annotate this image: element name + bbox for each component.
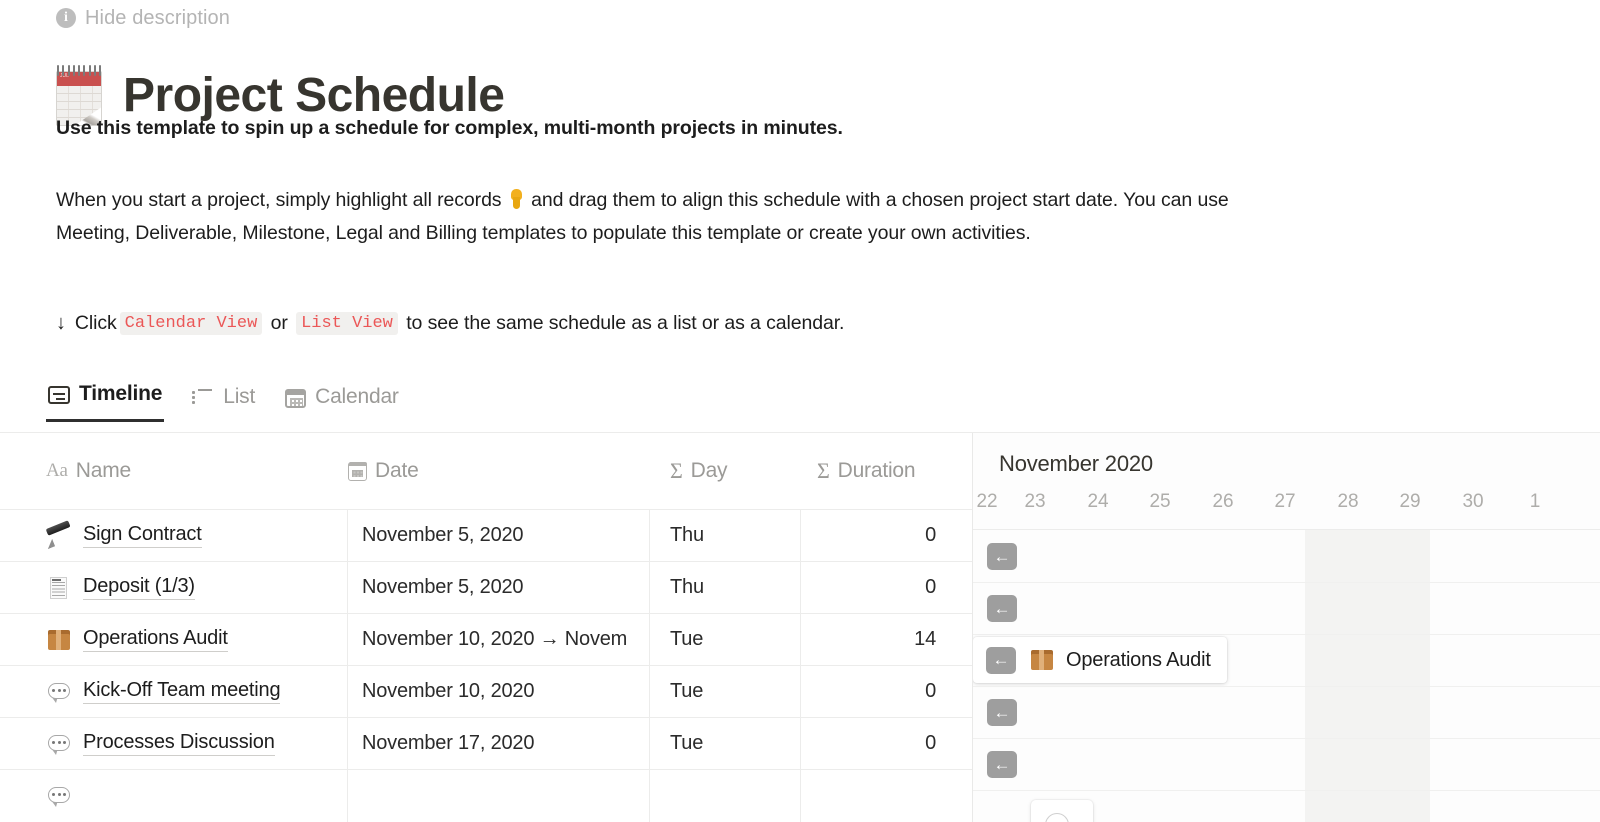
timeline-day-tick: 29 <box>1388 491 1432 513</box>
formula-sigma-icon: Σ <box>670 458 683 484</box>
timeline-icon <box>48 386 70 404</box>
row-day-cell <box>650 770 800 822</box>
row-duration-label: 0 <box>925 576 936 599</box>
row-date-label: November 10, 2020 <box>362 680 534 703</box>
package-icon <box>1029 647 1055 673</box>
tab-calendar-label: Calendar <box>315 385 399 409</box>
row-date-label: November 5, 2020 <box>362 576 523 599</box>
timeline-month-label: November 2020 <box>999 451 1153 477</box>
column-header-name-label: Name <box>76 459 131 483</box>
or-word: or <box>265 312 293 335</box>
speech-balloon-icon <box>46 731 72 757</box>
calendar-view-chip[interactable]: Calendar View <box>120 312 263 335</box>
tab-list-label: List <box>223 385 255 409</box>
formula-sigma-icon: Σ <box>817 458 830 484</box>
pen-icon <box>46 523 72 549</box>
row-duration-cell <box>800 770 958 822</box>
description-paragraph-part1: When you start a project, simply highlig… <box>56 189 507 211</box>
row-name-label[interactable]: Processes Discussion <box>83 731 275 756</box>
column-header-date-label: Date <box>375 459 419 483</box>
timeline-bar-card[interactable]: ← Operations Audit <box>973 637 1227 683</box>
row-name-cell[interactable] <box>0 770 348 822</box>
row-name-label[interactable]: Kick-Off Team meeting <box>83 679 280 704</box>
row-day-cell: Thu <box>650 510 800 562</box>
row-date-label: November 17, 2020 <box>362 732 534 755</box>
row-day-label: Tue <box>670 628 703 651</box>
page-title: Project Schedule <box>123 72 504 120</box>
description-bold-line: Use this template to spin up a schedule … <box>56 117 843 140</box>
row-day-label: Tue <box>670 680 703 703</box>
row-duration-cell: 14 <box>800 614 958 666</box>
table-row[interactable]: Sign Contract November 5, 2020 Thu 0 <box>0 509 972 561</box>
row-day-cell: Thu <box>650 562 800 614</box>
column-header-day[interactable]: Σ Day <box>650 458 800 484</box>
row-day-label: Tue <box>670 732 703 755</box>
timeline-grid: Aa Name Date Σ Day Σ Duration <box>0 432 1600 822</box>
row-date-cell[interactable] <box>348 770 650 822</box>
row-duration-label: 0 <box>925 732 936 755</box>
timeline-body[interactable]: ← ← ← Operations Audit ← <box>973 530 1600 822</box>
speech-balloon-icon <box>46 679 72 705</box>
row-date-cell[interactable]: November 5, 2020 <box>348 562 650 614</box>
hide-description-toggle[interactable]: i Hide description <box>56 5 230 31</box>
text-aa-icon: Aa <box>46 460 68 482</box>
row-duration-cell: 0 <box>800 666 958 718</box>
table-row[interactable]: Operations Audit November 10, 2020 → Nov… <box>0 613 972 665</box>
row-duration-cell: 0 <box>800 718 958 770</box>
scroll-left-arrow-icon[interactable]: ← <box>987 543 1017 570</box>
row-duration-label: 0 <box>925 680 936 703</box>
timeline-day-tick: 1 <box>1513 491 1557 513</box>
list-view-chip[interactable]: List View <box>296 312 398 335</box>
row-duration-cell: 0 <box>800 510 958 562</box>
description-click-line: ↓ClickCalendar View or List View to see … <box>56 312 844 335</box>
timeline-day-tick: 26 <box>1201 491 1245 513</box>
down-arrow-glyph: ↓ <box>56 312 66 335</box>
row-day-label: Thu <box>670 524 704 547</box>
row-date-label: November 5, 2020 <box>362 524 523 547</box>
table-row[interactable]: Deposit (1/3) November 5, 2020 Thu 0 <box>0 561 972 613</box>
info-icon: i <box>56 8 76 28</box>
tab-calendar[interactable]: Calendar <box>283 381 401 422</box>
row-name-label[interactable]: Sign Contract <box>83 523 202 548</box>
timeline-day-tick: 27 <box>1263 491 1307 513</box>
scroll-left-arrow-icon[interactable]: ← <box>986 647 1016 674</box>
table-row-partial[interactable] <box>0 769 972 821</box>
tab-list[interactable]: List <box>190 381 257 422</box>
row-name-cell[interactable]: Processes Discussion <box>0 718 348 770</box>
tab-timeline[interactable]: Timeline <box>46 378 164 422</box>
row-name-cell[interactable]: Sign Contract <box>0 510 348 562</box>
row-name-cell[interactable]: Kick-Off Team meeting <box>0 666 348 718</box>
table-row[interactable]: Kick-Off Team meeting November 10, 2020 … <box>0 665 972 717</box>
row-day-cell: Tue <box>650 718 800 770</box>
timeline-row-partial[interactable] <box>973 790 1600 822</box>
calendar-icon <box>285 389 306 408</box>
pointing-down-icon <box>508 189 525 210</box>
timeline-row[interactable]: ← <box>973 582 1600 634</box>
timeline-day-tick: 24 <box>1076 491 1120 513</box>
table-header-row: Aa Name Date Σ Day Σ Duration <box>0 433 972 509</box>
row-name-label[interactable]: Deposit (1/3) <box>83 575 195 600</box>
row-date-cell[interactable]: November 17, 2020 <box>348 718 650 770</box>
speech-balloon-icon <box>46 783 72 809</box>
table-pane: Aa Name Date Σ Day Σ Duration <box>0 433 972 822</box>
row-day-cell: Tue <box>650 666 800 718</box>
table-body: Sign Contract November 5, 2020 Thu 0 Dep… <box>0 509 972 822</box>
timeline-bar-card-partial[interactable] <box>1031 800 1093 822</box>
row-duration-cell: 0 <box>800 562 958 614</box>
scroll-left-arrow-icon[interactable]: ← <box>987 751 1017 778</box>
avatar-placeholder-icon <box>1045 813 1069 822</box>
column-header-duration[interactable]: Σ Duration <box>800 458 958 484</box>
calendar-icon <box>348 462 367 481</box>
click-tail: to see the same schedule as a list or as… <box>401 312 844 335</box>
project-schedule-page: i Hide description JUL Project Schedule … <box>0 0 1600 822</box>
column-header-day-label: Day <box>691 459 728 483</box>
timeline-pane[interactable]: November 2020 22 23 24 25 26 27 28 29 30… <box>972 433 1600 822</box>
column-header-name[interactable]: Aa Name <box>46 459 348 483</box>
scroll-left-arrow-icon[interactable]: ← <box>987 595 1017 622</box>
row-name-cell[interactable]: Deposit (1/3) <box>0 562 348 614</box>
timeline-day-tick: 22 <box>972 491 1009 513</box>
column-header-duration-label: Duration <box>838 459 916 483</box>
hide-description-label: Hide description <box>85 7 230 30</box>
view-tabs: Timeline List Calendar <box>46 378 401 422</box>
timeline-row[interactable]: ← Operations Audit <box>973 634 1600 686</box>
row-name-cell[interactable]: Operations Audit <box>0 614 348 666</box>
scroll-left-arrow-icon[interactable]: ← <box>987 699 1017 726</box>
row-duration-label: 0 <box>925 524 936 547</box>
package-icon <box>46 627 72 653</box>
row-date-cell[interactable]: November 5, 2020 <box>348 510 650 562</box>
timeline-day-tick: 30 <box>1451 491 1495 513</box>
timeline-day-tick: 25 <box>1138 491 1182 513</box>
row-date-cell[interactable]: November 10, 2020 <box>348 666 650 718</box>
row-day-label: Thu <box>670 576 704 599</box>
timeline-row[interactable]: ← <box>973 686 1600 738</box>
row-duration-label: 14 <box>914 628 936 651</box>
description-paragraph: When you start a project, simply highlig… <box>56 184 1271 249</box>
row-date-label: November 10, 2020 → Novem <box>362 628 627 651</box>
timeline-row[interactable]: ← <box>973 738 1600 790</box>
timeline-day-tick: 23 <box>1013 491 1057 513</box>
table-row[interactable]: Processes Discussion November 17, 2020 T… <box>0 717 972 769</box>
column-header-date[interactable]: Date <box>348 459 650 483</box>
row-day-cell: Tue <box>650 614 800 666</box>
timeline-row[interactable]: ← <box>973 530 1600 582</box>
receipt-icon <box>46 575 72 601</box>
timeline-day-tick: 28 <box>1326 491 1370 513</box>
click-word: Click <box>75 312 117 335</box>
timeline-bar-label: Operations Audit <box>1066 649 1211 672</box>
tab-timeline-label: Timeline <box>79 382 162 406</box>
timeline-day-ticks: 22 23 24 25 26 27 28 29 30 1 <box>973 491 1600 523</box>
row-name-label[interactable]: Operations Audit <box>83 627 228 652</box>
list-icon <box>192 389 214 407</box>
row-date-cell[interactable]: November 10, 2020 → Novem <box>348 614 650 666</box>
